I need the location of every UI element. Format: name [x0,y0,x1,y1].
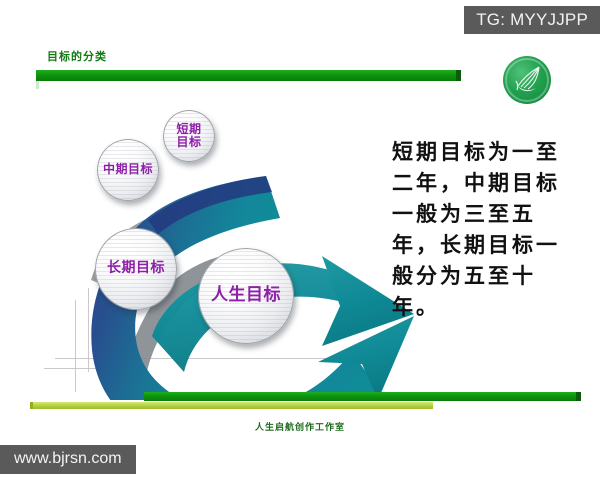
footer-accent-bar-olive-cap [30,402,33,409]
telegram-watermark: TG: MYYJJPP [464,6,600,34]
sphere-short-term-goal[interactable]: 短期 目标 [163,110,215,162]
sphere-life-goal-label: 人生目标 [211,286,281,305]
website-watermark: www.bjrsn.com [0,445,136,474]
footer-text: 人生启航创作工作室 [0,420,600,433]
footer-accent-bar-green-cap [576,392,581,401]
sphere-mid-term-goal-label: 中期目标 [103,163,153,176]
sphere-mid-term-goal[interactable]: 中期目标 [97,139,159,201]
header-accent-bar-tick [36,81,39,89]
header-accent-bar-cap [456,70,461,81]
sphere-long-term-goal[interactable]: 长期目标 [95,228,177,310]
sphere-life-goal[interactable]: 人生目标 [198,248,294,344]
curved-swoosh-arrow-icon [22,100,422,400]
body-text: 短期目标为一至二年，中期目标一般为三至五年，长期目标一般分为五至十年。 [392,136,572,322]
sphere-short-term-goal-label: 短期 目标 [176,123,201,150]
footer-accent-bar-olive [33,402,433,409]
sphere-long-term-goal-label: 长期目标 [107,261,165,277]
header-accent-bar [36,70,456,81]
slide-canvas: 目标的分类 [0,0,600,480]
green-circle-leaf-logo-icon [503,56,551,104]
leaf-icon [512,63,544,95]
page-title: 目标的分类 [47,48,107,64]
footer-accent-bar-green [144,392,576,401]
